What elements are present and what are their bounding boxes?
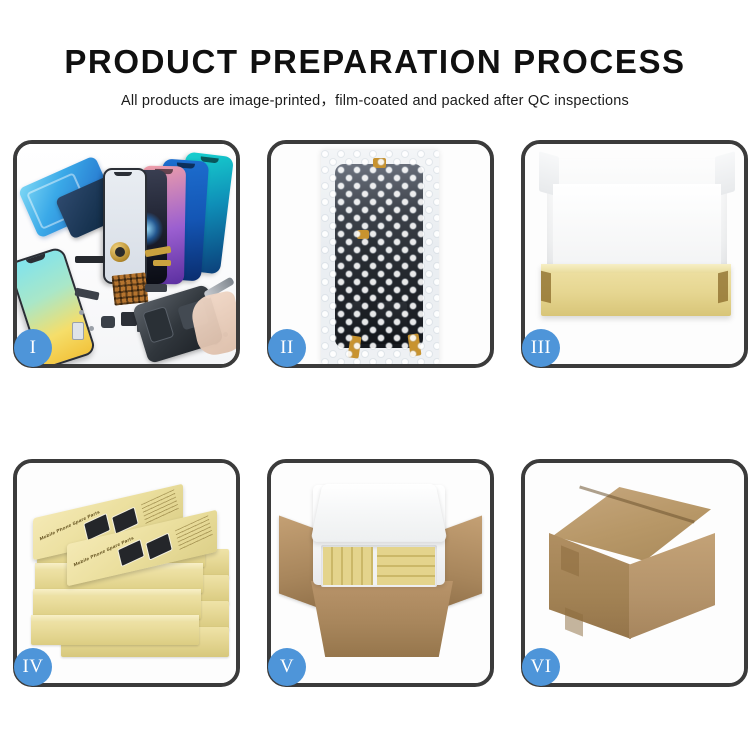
page-header: PRODUCT PREPARATION PROCESS All products… — [0, 0, 750, 110]
process-step-3[interactable]: III — [521, 140, 748, 368]
step-badge-1: I — [14, 329, 52, 367]
carton-body — [311, 581, 453, 657]
retail-box — [31, 615, 199, 645]
phone-glass-panel-icon — [103, 168, 147, 284]
step-4-image: Mobile Phone Spare Parts Mobile Phone Sp… — [17, 463, 236, 683]
vibration-motor-icon — [101, 316, 115, 328]
carton-contents — [321, 545, 437, 587]
step-6-image — [525, 463, 744, 683]
box-corner-shadow — [541, 271, 551, 303]
battery-connector-icon — [75, 256, 105, 263]
box-corner-shadow — [718, 271, 728, 303]
process-step-5[interactable]: V — [267, 459, 494, 687]
bubble-texture — [321, 150, 439, 364]
screw-icon — [79, 310, 84, 315]
step-3-image — [525, 144, 744, 364]
page-subtitle: All products are image-printed，film-coat… — [0, 80, 750, 110]
step-5-image — [271, 463, 490, 683]
logic-board-icon — [112, 272, 149, 305]
page-title: PRODUCT PREPARATION PROCESS — [0, 0, 750, 80]
process-step-2[interactable]: II — [267, 140, 494, 368]
retail-boxes-flat — [377, 547, 435, 585]
screw-icon — [89, 326, 94, 331]
step-badge-2: II — [268, 329, 306, 367]
step-2-image — [271, 144, 490, 364]
process-steps-grid: I II — [13, 140, 740, 686]
flex-cable-icon — [145, 284, 167, 292]
process-step-6[interactable]: VI — [521, 459, 748, 687]
yellow-inner-box — [541, 264, 731, 316]
stacked-boxes: Mobile Phone Spare Parts Mobile Phone Sp… — [27, 485, 233, 667]
product-preparation-process-page: PRODUCT PREPARATION PROCESS All products… — [0, 0, 750, 750]
camera-lens-icon — [110, 242, 130, 262]
step-1-image — [17, 144, 236, 364]
process-step-1[interactable]: I — [13, 140, 240, 368]
foam-liner — [553, 184, 721, 274]
step-badge-5: V — [268, 648, 306, 686]
step-badge-6: VI — [522, 648, 560, 686]
process-step-4[interactable]: Mobile Phone Spare Parts Mobile Phone Sp… — [13, 459, 240, 687]
flex-cable-icon — [153, 260, 171, 266]
bubble-wrap-bag — [321, 150, 439, 364]
box-product-photo-icon — [145, 532, 173, 560]
box-spec-lines — [175, 515, 213, 551]
retail-boxes-upright — [323, 547, 373, 585]
sim-tray-icon — [72, 322, 84, 340]
step-badge-3: III — [522, 329, 560, 367]
foam-box-lid — [310, 484, 447, 542]
step-badge-4: IV — [14, 648, 52, 686]
